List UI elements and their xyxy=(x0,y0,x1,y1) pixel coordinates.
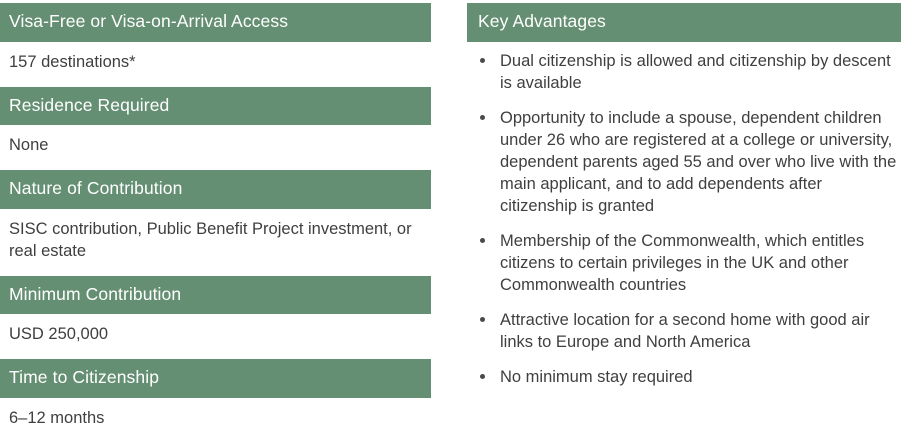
list-item-text: Membership of the Commonwealth, which en… xyxy=(500,232,864,294)
fact-value-visa-free-access: 157 destinations* xyxy=(0,42,431,81)
list-item: Attractive location for a second home wi… xyxy=(467,309,901,353)
bullet-dot-icon xyxy=(480,317,485,322)
fact-value-nature-of-contribution: SISC contribution, Public Benefit Projec… xyxy=(0,209,431,270)
fact-row: Nature of Contribution SISC contribution… xyxy=(0,170,431,270)
fact-row: Minimum Contribution USD 250,000 xyxy=(0,276,431,354)
fact-value-minimum-contribution: USD 250,000 xyxy=(0,314,431,353)
list-item-text: Dual citizenship is allowed and citizens… xyxy=(500,52,891,92)
fact-value-residence-required: None xyxy=(0,125,431,164)
bullet-dot-icon xyxy=(480,238,485,243)
fact-row: Residence Required None xyxy=(0,87,431,165)
fact-value-time-to-citizenship: 6–12 months xyxy=(0,398,431,437)
fact-header-minimum-contribution: Minimum Contribution xyxy=(0,276,431,315)
fact-sheet-page: Visa-Free or Visa-on-Arrival Access 157 … xyxy=(0,0,901,446)
fact-header-visa-free-access: Visa-Free or Visa-on-Arrival Access xyxy=(0,3,431,42)
fact-row: Visa-Free or Visa-on-Arrival Access 157 … xyxy=(0,3,431,81)
list-item: Dual citizenship is allowed and citizens… xyxy=(467,50,901,94)
list-item-text: Opportunity to include a spouse, depende… xyxy=(500,109,896,215)
key-facts-table: Visa-Free or Visa-on-Arrival Access 157 … xyxy=(0,0,431,446)
list-item-text: No minimum stay required xyxy=(500,368,693,386)
list-item: No minimum stay required xyxy=(467,366,901,388)
fact-header-time-to-citizenship: Time to Citizenship xyxy=(0,359,431,398)
list-item: Opportunity to include a spouse, depende… xyxy=(467,107,901,217)
fact-row: Time to Citizenship 6–12 months xyxy=(0,359,431,437)
bullet-dot-icon xyxy=(480,58,485,63)
fact-header-nature-of-contribution: Nature of Contribution xyxy=(0,170,431,209)
list-item: Membership of the Commonwealth, which en… xyxy=(467,230,901,296)
key-advantages-header: Key Advantages xyxy=(467,3,901,42)
key-advantages-list: Dual citizenship is allowed and citizens… xyxy=(467,42,901,388)
bullet-dot-icon xyxy=(480,374,485,379)
list-item-text: Attractive location for a second home wi… xyxy=(500,311,870,351)
bullet-dot-icon xyxy=(480,115,485,120)
fact-header-residence-required: Residence Required xyxy=(0,87,431,126)
key-advantages-panel: Key Advantages Dual citizenship is allow… xyxy=(467,0,901,446)
